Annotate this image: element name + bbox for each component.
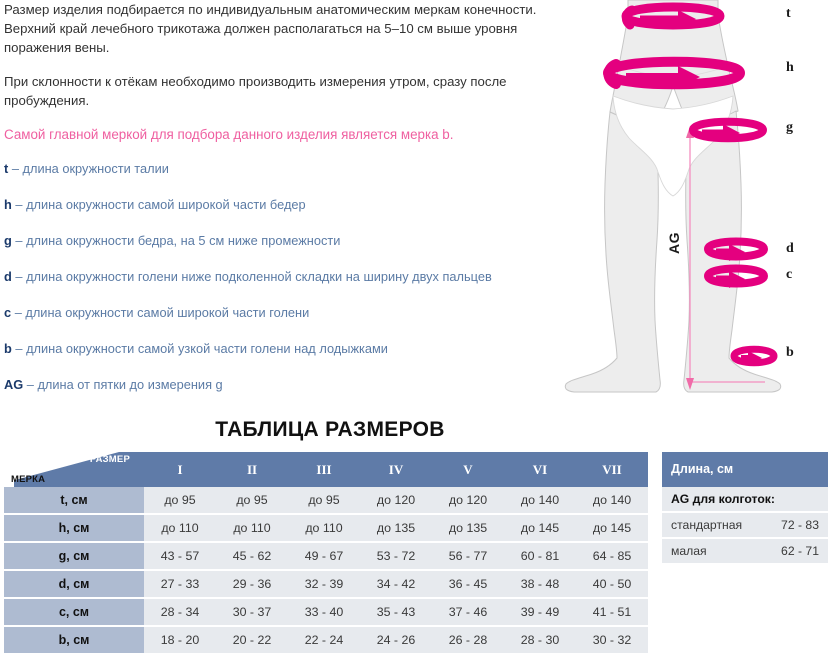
legend-key-ag: AG: [4, 377, 23, 392]
figure-label-t: t: [786, 6, 791, 22]
cell-h-2: до 110: [216, 514, 288, 542]
row-label-d: d, см: [4, 570, 144, 598]
legend-dash-ag: –: [27, 377, 34, 392]
cell-t-2: до 95: [216, 487, 288, 514]
row-label-b: b, см: [4, 626, 144, 654]
legend-dash-h: –: [15, 197, 22, 212]
column-header-5: V: [432, 452, 504, 487]
cell-d-2: 29 - 36: [216, 570, 288, 598]
length-row-title-label: AG для колготок:: [671, 486, 775, 512]
cell-b-4: 24 - 26: [360, 626, 432, 654]
column-header-1: I: [144, 452, 216, 487]
legend-item-b: b – длина окружности самой узкой части г…: [0, 340, 566, 357]
legend-key-h: h: [4, 197, 12, 212]
table-row: b, см 18 - 20 20 - 22 22 - 24 24 - 26 26…: [4, 626, 648, 654]
cell-h-6: до 145: [504, 514, 576, 542]
cell-t-6: до 140: [504, 487, 576, 514]
cell-c-6: 39 - 49: [504, 598, 576, 626]
size-guide-page: Размер изделия подбирается по индивидуал…: [0, 0, 832, 652]
table-row: d, см 27 - 33 29 - 36 32 - 39 34 - 42 36…: [4, 570, 648, 598]
legend-dash-t: –: [12, 161, 19, 176]
cell-g-2: 45 - 62: [216, 542, 288, 570]
legend-text-ag: длина от пятки до измерения g: [37, 377, 222, 392]
cell-d-4: 34 - 42: [360, 570, 432, 598]
cell-c-5: 37 - 46: [432, 598, 504, 626]
table-corner-header: РАЗМЕР МЕРКА: [4, 452, 144, 487]
figure-label-ag: AG: [666, 232, 682, 254]
cell-b-1: 18 - 20: [144, 626, 216, 654]
length-row-standard-value: 72 - 83: [781, 512, 819, 538]
legend-dash-d: –: [15, 269, 22, 284]
corner-measure-label: МЕРКА: [11, 474, 45, 485]
table-row: c, см 28 - 34 30 - 37 33 - 40 35 - 43 37…: [4, 598, 648, 626]
cell-h-1: до 110: [144, 514, 216, 542]
instructions-column: Размер изделия подбирается по индивидуал…: [0, 0, 566, 412]
legend-item-ag: AG – длина от пятки до измерения g: [0, 376, 566, 393]
cell-g-1: 43 - 57: [144, 542, 216, 570]
cell-g-4: 53 - 72: [360, 542, 432, 570]
length-row-small: малая 62 - 71: [662, 539, 828, 565]
legend-text-g: длина окружности бедра, на 5 см ниже про…: [26, 233, 340, 248]
corner-size-label: РАЗМЕР: [90, 454, 130, 465]
cell-d-1: 27 - 33: [144, 570, 216, 598]
band-b: [734, 349, 774, 366]
column-header-4: IV: [360, 452, 432, 487]
table-row: t, см до 95 до 95 до 95 до 120 до 120 до…: [4, 487, 648, 514]
column-header-7: VII: [576, 452, 648, 487]
cell-c-7: 41 - 51: [576, 598, 648, 626]
legend-text-c: длина окружности самой широкой части гол…: [25, 305, 309, 320]
figure-label-b: b: [786, 345, 794, 361]
table-row: h, см до 110 до 110 до 110 до 135 до 135…: [4, 514, 648, 542]
row-label-g: g, см: [4, 542, 144, 570]
cell-h-4: до 135: [360, 514, 432, 542]
legend-dash-g: –: [15, 233, 22, 248]
legend-dash-b: –: [15, 341, 22, 356]
length-panel-header: Длина, см: [662, 452, 828, 487]
intro-paragraph-2: При склонности к отёкам необходимо произ…: [0, 72, 566, 110]
legend-text-h: длина окружности самой широкой части бед…: [26, 197, 306, 212]
legend-key-b: b: [4, 341, 12, 356]
column-header-2: II: [216, 452, 288, 487]
figure-label-d: d: [786, 241, 794, 257]
legend-text-t: длина окружности талии: [23, 161, 169, 176]
cell-d-5: 36 - 45: [432, 570, 504, 598]
cell-c-4: 35 - 43: [360, 598, 432, 626]
figure-label-h: h: [786, 60, 794, 76]
legend-item-g: g – длина окружности бедра, на 5 см ниже…: [0, 232, 566, 249]
length-panel: Длина, см AG для колготок: стандартная 7…: [662, 452, 828, 565]
size-table: РАЗМЕР МЕРКА I II III IV V VI VII t, см …: [4, 452, 648, 655]
intro-paragraph-1: Размер изделия подбирается по индивидуал…: [0, 0, 566, 57]
legend-key-g: g: [4, 233, 12, 248]
legend-item-c: c – длина окружности самой широкой части…: [0, 304, 566, 321]
cell-b-5: 26 - 28: [432, 626, 504, 654]
table-row: g, см 43 - 57 45 - 62 49 - 67 53 - 72 56…: [4, 542, 648, 570]
figure-label-g: g: [786, 120, 793, 136]
cell-g-7: 64 - 85: [576, 542, 648, 570]
legend-text-d: длина окружности голени ниже подколенной…: [26, 269, 492, 284]
band-c: [708, 269, 764, 289]
cell-g-5: 56 - 77: [432, 542, 504, 570]
legend-dash-c: –: [15, 305, 22, 320]
legend-key-c: c: [4, 305, 11, 320]
length-row-small-value: 62 - 71: [781, 538, 819, 564]
cell-b-7: 30 - 32: [576, 626, 648, 654]
cell-t-5: до 120: [432, 487, 504, 514]
size-table-body: t, см до 95 до 95 до 95 до 120 до 120 до…: [4, 487, 648, 654]
length-row-small-label: малая: [671, 538, 707, 564]
cell-d-6: 38 - 48: [504, 570, 576, 598]
cell-h-7: до 145: [576, 514, 648, 542]
column-header-6: VI: [504, 452, 576, 487]
length-row-standard-label: стандартная: [671, 512, 742, 538]
column-header-3: III: [288, 452, 360, 487]
legend-key-d: d: [4, 269, 12, 284]
row-label-t: t, см: [4, 487, 144, 514]
cell-d-7: 40 - 50: [576, 570, 648, 598]
legend-item-t: t – длина окружности талии: [0, 160, 566, 177]
band-g: [693, 122, 763, 142]
cell-t-3: до 95: [288, 487, 360, 514]
row-label-h: h, см: [4, 514, 144, 542]
cell-t-4: до 120: [360, 487, 432, 514]
length-row-title: AG для колготок:: [662, 487, 828, 513]
cell-c-1: 28 - 34: [144, 598, 216, 626]
length-row-standard: стандартная 72 - 83: [662, 513, 828, 539]
size-table-header-row: РАЗМЕР МЕРКА I II III IV V VI VII: [4, 452, 648, 487]
band-d: [708, 242, 764, 262]
legend-item-d: d – длина окружности голени ниже подколе…: [0, 268, 566, 285]
cell-g-6: 60 - 81: [504, 542, 576, 570]
cell-h-5: до 135: [432, 514, 504, 542]
cell-t-7: до 140: [576, 487, 648, 514]
row-label-c: c, см: [4, 598, 144, 626]
legend-item-h: h – длина окружности самой широкой части…: [0, 196, 566, 213]
cell-h-3: до 110: [288, 514, 360, 542]
cell-b-3: 22 - 24: [288, 626, 360, 654]
cell-d-3: 32 - 39: [288, 570, 360, 598]
cell-c-2: 30 - 37: [216, 598, 288, 626]
legend-text-b: длина окружности самой узкой части голен…: [26, 341, 388, 356]
cell-b-6: 28 - 30: [504, 626, 576, 654]
cell-t-1: до 95: [144, 487, 216, 514]
figure-label-c: c: [786, 267, 792, 283]
cell-c-3: 33 - 40: [288, 598, 360, 626]
cell-g-3: 49 - 67: [288, 542, 360, 570]
size-table-head: РАЗМЕР МЕРКА I II III IV V VI VII: [4, 452, 648, 487]
highlight-note: Самой главной меркой для подбора данного…: [0, 125, 566, 144]
measurement-diagram: t h g d c b: [560, 0, 832, 405]
table-title: ТАБЛИЦА РАЗМЕРОВ: [0, 418, 660, 442]
cell-b-2: 20 - 22: [216, 626, 288, 654]
